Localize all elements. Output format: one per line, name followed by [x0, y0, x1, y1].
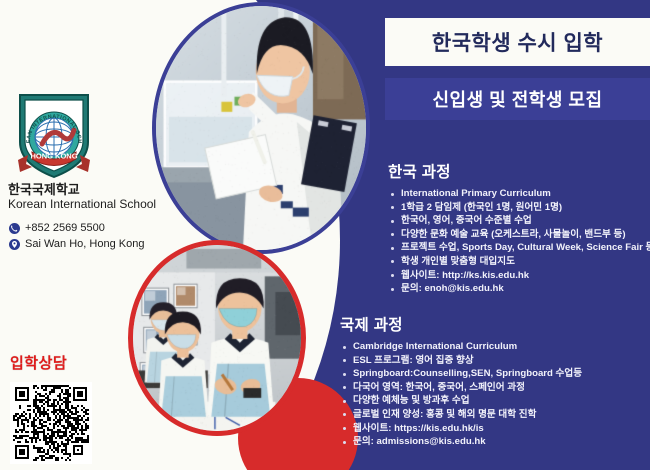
headline-banner-blue: 신입생 및 전학생 모집: [385, 78, 650, 120]
qr-label: 입학상담: [10, 352, 67, 373]
program-item: ESL 프로그램: 영어 집중 향상: [340, 354, 582, 368]
school-name-korean: 한국국제학교: [8, 182, 198, 197]
program-item: 문의: enoh@kis.edu.hk: [388, 282, 650, 296]
program-item: 웹사이트: http://ks.kis.edu.hk: [388, 269, 650, 283]
program-international: 국제 과정 Cambridge International Curriculum…: [340, 313, 582, 449]
svg-text:HONG KONG: HONG KONG: [30, 152, 77, 161]
program-item: 다양한 문화 예술 교육 (오케스트라, 사물놀이, 밴드부 등): [388, 228, 650, 242]
school-crest-icon: HONG KONG KOREAN INTERNATIONAL SCHOOL: [12, 92, 96, 180]
program-item: International Primary Curriculum: [388, 187, 650, 201]
contact-phone-text: +852 2569 5500: [25, 220, 105, 236]
program-item: 웹사이트: https://kis.edu.hk/is: [340, 422, 582, 436]
program-item: 글로벌 인재 양성: 홍콩 및 해외 명문 대학 진학: [340, 408, 582, 422]
program-international-heading: 국제 과정: [340, 313, 582, 335]
contact-address-row: Sai Wan Ho, Hong Kong: [9, 236, 209, 252]
phone-icon: [9, 223, 20, 234]
headline-primary: 한국학생 수시 입학: [432, 27, 603, 57]
qr-code[interactable]: [10, 382, 92, 464]
contact-phone-row: +852 2569 5500: [9, 220, 209, 236]
program-item: Springboard:Counselling,SEN, Springboard…: [340, 367, 582, 381]
school-name-english: Korean International School: [8, 197, 198, 212]
photo-science-lab: [152, 2, 370, 254]
program-korean-list: International Primary Curriculum1학급 2 담임…: [388, 187, 650, 296]
program-item: 학생 개인별 맞춤형 대입지도: [388, 255, 650, 269]
program-item: 프로젝트 수업, Sports Day, Cultural Week, Scie…: [388, 241, 650, 255]
program-international-list: Cambridge International CurriculumESL 프로…: [340, 340, 582, 449]
program-item: 한국어, 영어, 중국어 수준별 수업: [388, 214, 650, 228]
photo-art-class: [128, 240, 306, 436]
headline-secondary: 신입생 및 전학생 모집: [432, 86, 602, 112]
program-item: 다양한 예체능 및 방과후 수업: [340, 394, 582, 408]
program-item: 다국어 영역: 한국어, 중국어, 스페인어 과정: [340, 381, 582, 395]
school-name-block: 한국국제학교 Korean International School: [8, 182, 198, 212]
location-pin-icon: [9, 239, 20, 250]
program-item: 문의: admissions@kis.edu.hk: [340, 435, 582, 449]
contact-address-text: Sai Wan Ho, Hong Kong: [25, 236, 144, 252]
program-korean-heading: 한국 과정: [388, 160, 650, 182]
headline-banner-white: 한국학생 수시 입학: [385, 18, 650, 66]
program-item: Cambridge International Curriculum: [340, 340, 582, 354]
program-korean: 한국 과정 International Primary Curriculum1학…: [388, 160, 650, 296]
contact-block: +852 2569 5500 Sai Wan Ho, Hong Kong: [9, 220, 209, 252]
program-item: 1학급 2 담임제 (한국인 1명, 원어민 1명): [388, 201, 650, 215]
admissions-flyer: HONG KONG KOREAN INTERNATIONAL SCHOOL 한국…: [0, 0, 650, 470]
